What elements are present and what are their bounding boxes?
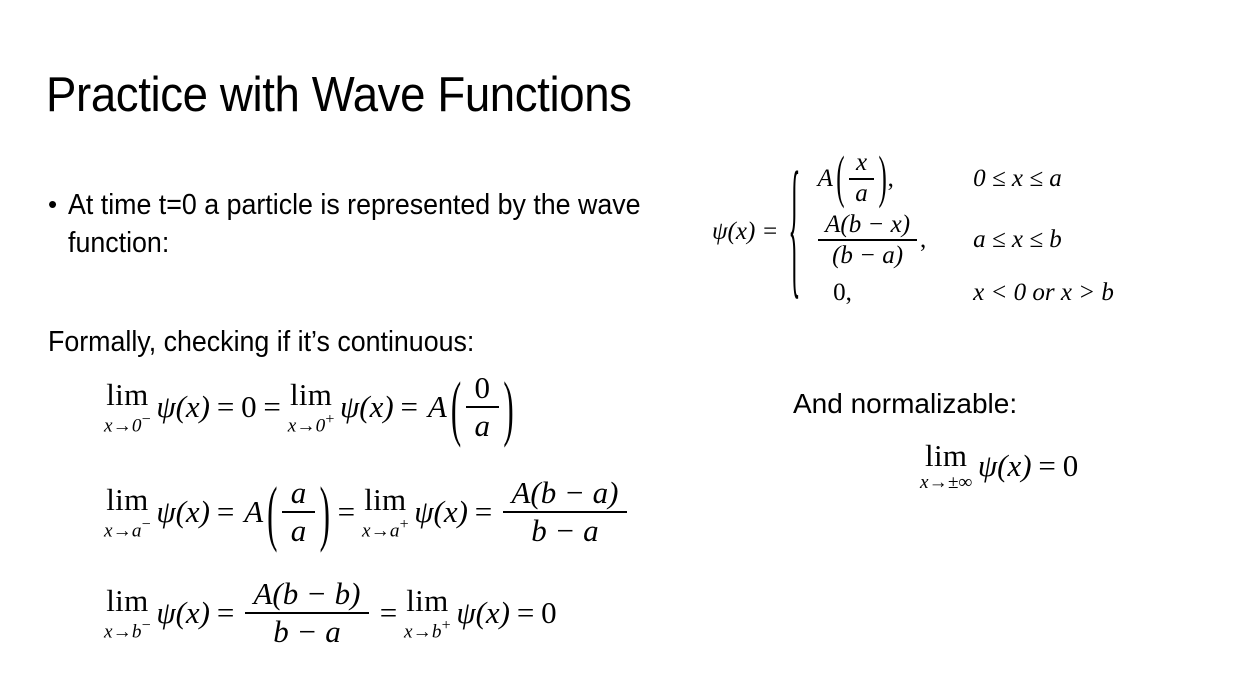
parenthesized-fraction: ( a a ): [266, 477, 331, 548]
equation-continuity-at-a: lim x→a− ψ(x) = A ( a a ) = lim x→a+ ψ(x…: [104, 477, 631, 548]
piecewise-case: 0, x < 0 or x > b: [809, 273, 1114, 313]
fraction-numerator: A(b − a): [503, 477, 627, 513]
limit-subscript: x→0+: [288, 412, 335, 436]
fraction-denominator: b − a: [523, 513, 608, 547]
limit-operator-left: lim x→a−: [104, 484, 151, 540]
fraction-denominator: b − a: [265, 614, 350, 648]
list-item: • At time t=0 a particle is represented …: [48, 186, 708, 263]
limit-subscript: x→0−: [104, 412, 151, 436]
equation-continuity-at-b: lim x→b− ψ(x) = A(b − b) b − a = lim x→b…: [104, 578, 557, 649]
fraction-denominator: a: [466, 408, 499, 442]
case-comma: ,: [888, 165, 894, 193]
result-fraction: A(b − a) b − a: [503, 477, 627, 548]
limit-subscript: x→b+: [404, 618, 451, 642]
equals-sign: =: [210, 595, 241, 631]
formally-continuous-label: Formally, checking if it’s continuous:: [48, 324, 474, 361]
equals-sign: =: [394, 389, 425, 425]
fraction-numerator: x: [849, 150, 874, 180]
limit-subscript: x→a+: [362, 517, 409, 541]
paren-right-icon: ): [878, 149, 888, 208]
fraction: x a: [848, 150, 875, 208]
slide-canvas: Practice with Wave Functions • At time t…: [0, 0, 1252, 696]
piecewise-wave-function: ψ(x) = { A ( x a ) , 0 ≤ x ≤: [712, 150, 1114, 313]
psi-of-x: ψ(x): [340, 389, 394, 425]
equals-sign: =: [468, 494, 499, 530]
normalizable-label: And normalizable:: [793, 388, 1017, 420]
bullet-list: • At time t=0 a particle is represented …: [48, 186, 708, 263]
fraction-numerator: a: [282, 477, 315, 513]
case-condition: 0 ≤ x ≤ a: [943, 165, 1062, 193]
psi-of-x: ψ(x): [456, 595, 510, 631]
case-value: A ( x a ) ,: [809, 150, 943, 208]
case-value: A(b − x) (b − a) ,: [809, 212, 943, 270]
psi-of-x: ψ(x): [156, 494, 210, 530]
case-condition: a ≤ x ≤ b: [943, 226, 1062, 254]
psi-of-x: ψ(x): [414, 494, 468, 530]
limit-subscript: x→±∞: [920, 473, 972, 492]
paren-left-icon: (: [266, 476, 278, 549]
psi-of-x-equals: ψ(x) =: [712, 218, 785, 246]
fraction: a a: [282, 477, 315, 548]
paren-left-icon: (: [450, 371, 462, 444]
bullet-marker-icon: •: [48, 186, 68, 222]
limit-operator: lim x→±∞: [920, 440, 972, 492]
fraction-denominator: a: [848, 180, 875, 208]
fraction-denominator: (b − a): [825, 241, 910, 269]
coefficient-A: A: [425, 389, 450, 425]
fraction-numerator: A(b − b): [245, 578, 369, 614]
equation-continuity-at-zero: lim x→0− ψ(x) = 0 = lim x→0+ ψ(x) = A ( …: [104, 372, 515, 443]
limit-operator-left: lim x→b−: [104, 585, 151, 641]
paren-left-icon: (: [835, 149, 845, 208]
equals-sign: =: [331, 494, 362, 530]
fraction-denominator: a: [282, 513, 315, 547]
equation-normalizable-limit: lim x→±∞ ψ(x) = 0: [920, 440, 1078, 492]
piecewise-cases: A ( x a ) , 0 ≤ x ≤ a: [809, 150, 1114, 313]
equals-sign: =: [1032, 448, 1063, 484]
psi-of-x: ψ(x): [978, 448, 1032, 484]
fraction: 0 a: [466, 372, 499, 443]
value-zero: 0: [541, 595, 557, 631]
equals-sign: =: [257, 389, 288, 425]
value-zero: 0: [1063, 448, 1079, 484]
result-fraction: A(b − b) b − a: [245, 578, 369, 649]
paren-right-icon: ): [319, 476, 331, 549]
piecewise-case: A ( x a ) , 0 ≤ x ≤ a: [809, 150, 1114, 208]
parenthesized-fraction: ( 0 a ): [450, 372, 515, 443]
case-condition: x < 0 or x > b: [943, 279, 1114, 307]
case-scalar-value: 0,: [815, 279, 852, 307]
page-title: Practice with Wave Functions: [46, 68, 632, 123]
equals-sign: =: [210, 389, 241, 425]
coefficient-A: A: [241, 494, 266, 530]
psi-of-x: ψ(x): [156, 595, 210, 631]
left-curly-brace-icon: {: [788, 154, 800, 309]
equals-sign: =: [373, 595, 404, 631]
limit-subscript: x→a−: [104, 517, 151, 541]
equals-sign: =: [510, 595, 541, 631]
bullet-item-text: At time t=0 a particle is represented by…: [68, 186, 670, 263]
parenthesized-fraction: ( x a ): [835, 150, 887, 208]
limit-subscript: x→b−: [104, 618, 151, 642]
case-value: 0,: [809, 279, 943, 307]
paren-right-icon: ): [502, 371, 514, 444]
limit-operator-right: lim x→b+: [404, 585, 451, 641]
fraction-numerator: 0: [466, 372, 499, 408]
case-comma: ,: [920, 226, 926, 254]
limit-operator-left: lim x→0−: [104, 379, 151, 435]
limit-operator-right: lim x→0+: [288, 379, 335, 435]
value-zero: 0: [241, 389, 257, 425]
psi-of-x: ψ(x): [156, 389, 210, 425]
fraction: A(b − x) (b − a): [818, 212, 917, 270]
equals-sign: =: [210, 494, 241, 530]
coefficient-A: A: [815, 165, 835, 193]
piecewise-case: A(b − x) (b − a) , a ≤ x ≤ b: [809, 212, 1114, 270]
limit-operator-right: lim x→a+: [362, 484, 409, 540]
fraction-numerator: A(b − x): [818, 212, 917, 242]
